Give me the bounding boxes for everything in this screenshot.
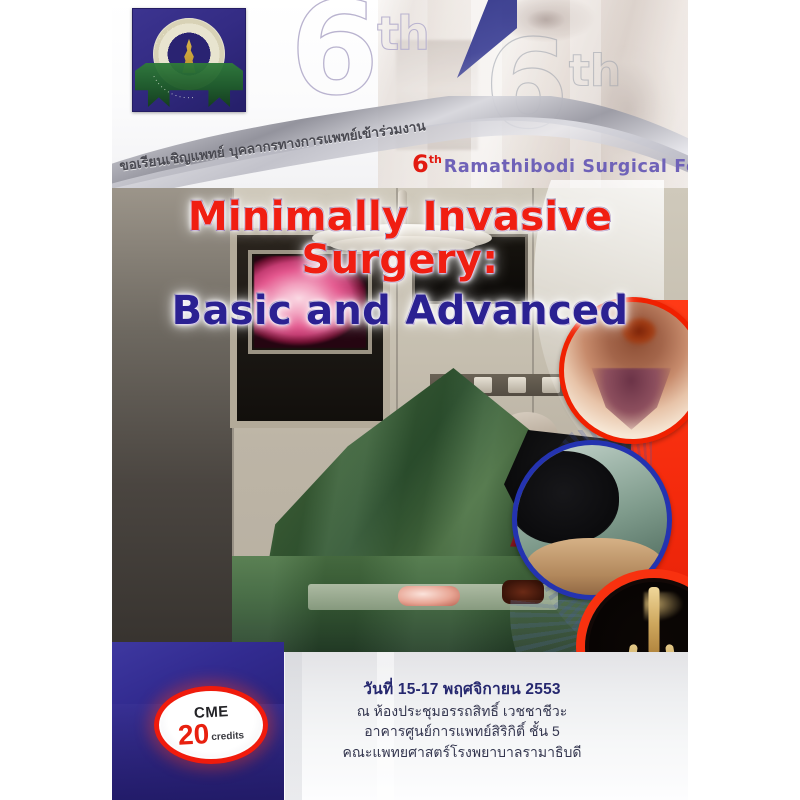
watermark-right-suffix: th (569, 45, 621, 96)
surgical-light-icon (312, 206, 492, 258)
forum-ordinal-suffix: th (429, 153, 442, 166)
poster-canvas: 6th 6th (0, 0, 800, 800)
event-venue-line-3: คณะแพทยศาสตร์โรงพยาบาลรามาธิบดี (262, 742, 662, 762)
endoscopy-monitor (248, 250, 372, 354)
watermark-right-numeral: 6 (484, 14, 569, 156)
svg-text:· · · · · · · ·: · · · · · · · · (150, 20, 185, 51)
surgical-field-tissue (398, 586, 460, 606)
cme-credits-badge: CME 20 credits (154, 686, 268, 764)
surgical-light-dome-inner (330, 236, 476, 254)
forum-name-line: 6th Ramathibodi Surgical Forum (412, 152, 682, 177)
cme-credit-number: 20 (177, 722, 209, 749)
watermark-6th-left: 6th (290, 0, 428, 114)
svg-text:· · · · · · · · · · · ·: · · · · · · · · · · · · (150, 74, 194, 102)
or-dark-left-wall (112, 188, 232, 668)
ramathibodi-seal-logo: · · · · · · · · · · · · · · · · · · · · (132, 8, 246, 112)
book-cover: 6th 6th (112, 0, 688, 800)
watermark-left-numeral: 6 (290, 0, 377, 124)
endoscopy-monitor-screen (254, 256, 366, 348)
seal-arc-text: · · · · · · · · · · · · · · · · · · · · (133, 9, 245, 111)
event-date: วันที่ 15-17 พฤศจิกายน 2553 (262, 680, 662, 701)
watermark-6th-right: 6th (484, 24, 621, 146)
cme-credit-unit: credits (211, 732, 244, 744)
event-venue-line-1: ณ ห้องประชุมอรรถสิทธิ์ เวชชาชีวะ (262, 701, 662, 721)
forum-title-text: Ramathibodi Surgical Forum (444, 157, 688, 177)
angiogram-aorta (649, 587, 660, 655)
event-details: วันที่ 15-17 พฤศจิกายน 2553 ณ ห้องประชุม… (262, 680, 662, 762)
forum-ordinal-number: 6 (412, 152, 429, 176)
event-venue-line-2: อาคารศูนย์การแพทย์สิริกิติ์ ชั้น 5 (262, 721, 662, 741)
watermark-left-suffix: th (377, 6, 428, 60)
laparoscopic-instruments-inset (512, 440, 672, 600)
header-band: 6th 6th (112, 0, 688, 190)
